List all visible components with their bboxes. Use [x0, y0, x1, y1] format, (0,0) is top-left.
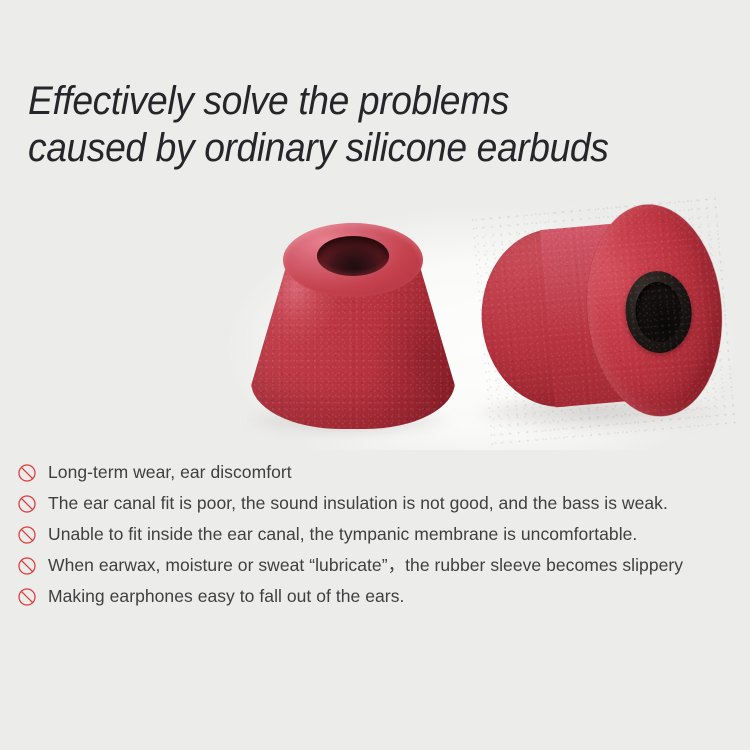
list-item: The ear canal fit is poor, the sound ins… — [0, 488, 750, 519]
problem-list: Long-term wear, ear discomfort The ear c… — [0, 457, 750, 612]
list-item: Making earphones easy to fall out of the… — [0, 581, 750, 612]
problem-text: The ear canal fit is poor, the sound ins… — [48, 493, 668, 514]
problem-text: Making earphones easy to fall out of the… — [48, 586, 404, 607]
prohibition-icon — [17, 525, 37, 545]
left-earbud-bore — [317, 236, 389, 276]
left-earbud — [243, 215, 463, 430]
product-marketing-image: Effectively solve the problems caused by… — [0, 0, 750, 750]
headline-line-2: caused by ordinary silicone earbuds — [28, 125, 679, 172]
prohibition-icon — [17, 587, 37, 607]
list-item: Long-term wear, ear discomfort — [0, 457, 750, 488]
problem-text: When earwax, moisture or sweat “lubricat… — [48, 555, 683, 576]
problem-text: Unable to fit inside the ear canal, the … — [48, 524, 637, 545]
list-item: Unable to fit inside the ear canal, the … — [0, 519, 750, 550]
problem-text: Long-term wear, ear discomfort — [48, 462, 292, 483]
prohibition-icon — [17, 463, 37, 483]
product-photo — [0, 185, 750, 450]
right-earbud — [468, 193, 735, 446]
headline-line-1: Effectively solve the problems — [28, 78, 679, 125]
prohibition-icon — [17, 556, 37, 576]
prohibition-icon — [17, 494, 37, 514]
list-item: When earwax, moisture or sweat “lubricat… — [0, 550, 750, 581]
page-title: Effectively solve the problems caused by… — [28, 78, 679, 172]
